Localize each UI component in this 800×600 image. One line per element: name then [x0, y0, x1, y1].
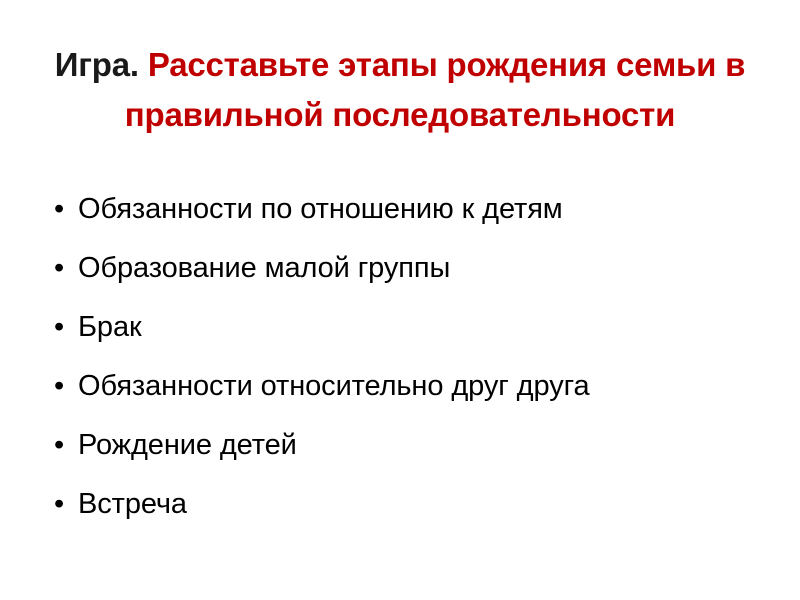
list-item-label: Встреча	[78, 485, 768, 523]
page-title: Игра. Расставьте этапы рождения семьи в …	[30, 40, 770, 140]
bullet-point-icon: •	[54, 426, 64, 464]
slide-canvas: Игра. Расставьте этапы рождения семьи в …	[0, 0, 800, 600]
list-item[interactable]: • Брак	[52, 308, 768, 346]
bullet-point-icon: •	[54, 367, 64, 405]
bullet-point-icon: •	[54, 190, 64, 228]
list-item[interactable]: • Встреча	[52, 485, 768, 523]
list-item[interactable]: • Образование малой группы	[52, 249, 768, 287]
list-item-label: Брак	[78, 308, 768, 346]
list-item-label: Образование малой группы	[78, 249, 768, 287]
list-item[interactable]: • Рождение детей	[52, 426, 768, 464]
title-highlight-text: Расставьте этапы рождения семьи в правил…	[125, 46, 746, 133]
title-lead-text: Игра.	[55, 46, 139, 83]
bullet-point-icon: •	[54, 249, 64, 287]
bullet-point-icon: •	[54, 308, 64, 346]
stages-bullet-list: • Обязанности по отношению к детям • Обр…	[52, 190, 768, 523]
bullet-point-icon: •	[54, 485, 64, 523]
list-item[interactable]: • Обязанности по отношению к детям	[52, 190, 768, 228]
list-item-label: Обязанности по отношению к детям	[78, 190, 768, 228]
list-item-label: Обязанности относительно друг друга	[78, 367, 768, 405]
list-item[interactable]: • Обязанности относительно друг друга	[52, 367, 768, 405]
list-item-label: Рождение детей	[78, 426, 768, 464]
